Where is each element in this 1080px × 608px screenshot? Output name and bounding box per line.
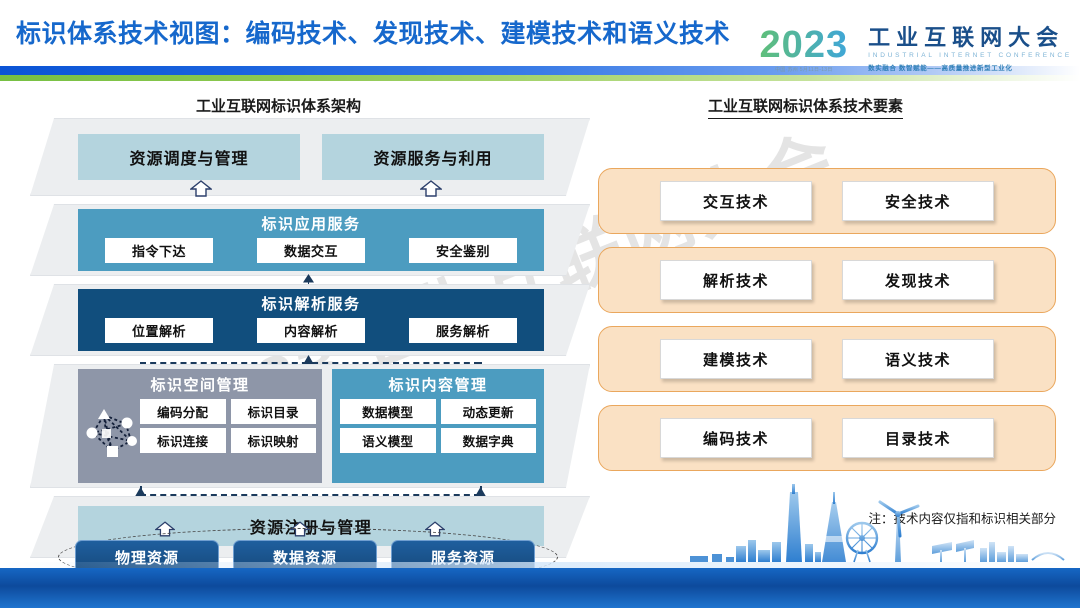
- box-resource-service[interactable]: 资源服务与利用: [322, 134, 544, 180]
- tech-directory[interactable]: 目录技术: [842, 418, 994, 458]
- cell-identifier-mapping[interactable]: 标识映射: [231, 428, 317, 453]
- chip-content-resolution[interactable]: 内容解析: [257, 318, 365, 343]
- cell-identifier-directory[interactable]: 标识目录: [231, 399, 317, 424]
- cell-code-allocation[interactable]: 编码分配: [140, 399, 226, 424]
- layer-identification-application-service: 标识应用服务 指令下达 数据交互 安全鉴别: [30, 204, 590, 276]
- chip-service-resolution[interactable]: 服务解析: [409, 318, 517, 343]
- tech-interaction[interactable]: 交互技术: [660, 181, 812, 221]
- network-nodes-icon: [84, 407, 142, 463]
- content-management-title: 标识内容管理: [332, 369, 544, 395]
- tech-resolution[interactable]: 解析技术: [660, 260, 812, 300]
- chip-command-dispatch[interactable]: 指令下达: [105, 238, 213, 263]
- panel-identification-space-management: 标识空间管理: [78, 369, 322, 483]
- layer1-boxes: 资源调度与管理 资源服务与利用: [78, 134, 544, 180]
- cell-data-dictionary[interactable]: 数据字典: [441, 428, 537, 453]
- technology-elements-panel: 交互技术 安全技术 解析技术 发现技术 建模技术 语义技术 编码技术 目录技术: [598, 168, 1056, 484]
- layer-identification-management: 标识空间管理: [30, 364, 590, 488]
- logo-text-block: 工业互联网大会 INDUSTRIAL INTERNET CONFERENCE 数…: [868, 26, 1072, 72]
- logo-slogan: 数实融合 数智赋能——高质量推进新型工业化: [868, 62, 1072, 72]
- tech-row: 编码技术 目录技术: [598, 405, 1056, 471]
- layer-identification-resolution-service: 标识解析服务 位置解析 内容解析 服务解析: [30, 284, 590, 356]
- tech-discovery[interactable]: 发现技术: [842, 260, 994, 300]
- logo-date: 中国·苏州 5月11日-13日: [760, 66, 849, 73]
- layer3-chip-row: 位置解析 内容解析 服务解析: [78, 314, 544, 343]
- cell-dynamic-update[interactable]: 动态更新: [441, 399, 537, 424]
- chip-data-exchange[interactable]: 数据交互: [257, 238, 365, 263]
- conference-logo: 2023 中国·苏州 5月11日-13日 工业互联网大会 INDUSTRIAL …: [760, 26, 1072, 82]
- tech-security[interactable]: 安全技术: [842, 181, 994, 221]
- slide-header: 标识体系技术视图：编码技术、发现技术、建模技术和语义技术 2023 中国·苏州 …: [0, 0, 1080, 88]
- panel-identification-content-management: 标识内容管理 数据模型 动态更新 语义模型 数据字典: [332, 369, 544, 483]
- layer2-chip-row: 指令下达 数据交互 安全鉴别: [78, 234, 544, 263]
- cell-identifier-connection[interactable]: 标识连接: [140, 428, 226, 453]
- right-section-title: 工业互联网标识体系技术要素: [708, 95, 903, 119]
- cell-data-model[interactable]: 数据模型: [340, 399, 436, 424]
- tech-modeling[interactable]: 建模技术: [660, 339, 812, 379]
- layer4-panels: 标识空间管理: [78, 369, 544, 483]
- chip-security-auth[interactable]: 安全鉴别: [409, 238, 517, 263]
- footer-band: [0, 568, 1080, 608]
- left-section-title: 工业互联网标识体系架构: [196, 95, 361, 119]
- logo-name-cn: 工业互联网大会: [868, 26, 1072, 50]
- tech-row: 解析技术 发现技术: [598, 247, 1056, 313]
- logo-year-block: 2023 中国·苏州 5月11日-13日: [760, 26, 859, 73]
- box-resource-scheduling[interactable]: 资源调度与管理: [78, 134, 300, 180]
- city-skyline-illustration: [540, 484, 1080, 570]
- tech-semantic[interactable]: 语义技术: [842, 339, 994, 379]
- logo-year: 2023: [760, 26, 849, 64]
- up-arrow-icon: [190, 180, 212, 197]
- cell-semantic-model[interactable]: 语义模型: [340, 428, 436, 453]
- layer3-title: 标识解析服务: [78, 289, 544, 314]
- tech-row: 建模技术 语义技术: [598, 326, 1056, 392]
- layer2-panel: 标识应用服务 指令下达 数据交互 安全鉴别: [78, 209, 544, 271]
- space-management-title: 标识空间管理: [78, 369, 322, 395]
- chip-location-resolution[interactable]: 位置解析: [105, 318, 213, 343]
- layer-resource-capabilities: 资源调度与管理 资源服务与利用: [30, 118, 590, 196]
- content-management-cells: 数据模型 动态更新 语义模型 数据字典: [332, 395, 544, 453]
- up-arrow-icon: [420, 180, 442, 197]
- tech-encoding[interactable]: 编码技术: [660, 418, 812, 458]
- tech-row: 交互技术 安全技术: [598, 168, 1056, 234]
- layer2-title: 标识应用服务: [78, 209, 544, 234]
- architecture-stack: 资源调度与管理 资源服务与利用 标识应用服务 指令下达 数据交互 安全鉴别 标识…: [30, 118, 590, 528]
- page-title: 标识体系技术视图：编码技术、发现技术、建模技术和语义技术: [16, 14, 730, 50]
- layer3-panel: 标识解析服务 位置解析 内容解析 服务解析: [78, 289, 544, 351]
- logo-name-en: INDUSTRIAL INTERNET CONFERENCE: [868, 52, 1072, 59]
